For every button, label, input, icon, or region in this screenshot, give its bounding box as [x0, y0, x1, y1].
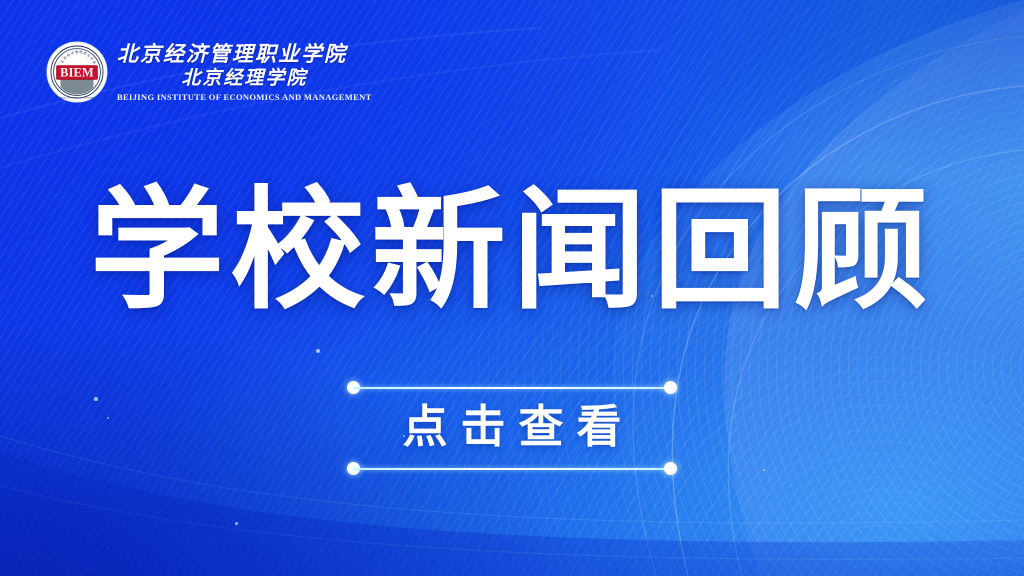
- sparkle-dot: [235, 522, 238, 525]
- institution-name-cn-secondary: 北京经理学院: [117, 69, 372, 88]
- sparkle-dot: [316, 349, 320, 353]
- svg-text:理: 理: [79, 49, 82, 54]
- biem-seal-logo-icon: BIEM 北 京 经 济 管 理 职 业 学 院 BEIJING INSTITU…: [46, 41, 108, 103]
- rule-bar: [354, 468, 670, 470]
- sparkle-dot: [763, 469, 766, 472]
- rule-bar: [354, 387, 670, 389]
- click-to-view-cta[interactable]: 点击查看: [347, 381, 677, 476]
- page-title: 学校新闻回顾: [0, 186, 1024, 318]
- divider-rule-with-end-dots-top: [347, 381, 677, 395]
- cta-label[interactable]: 点击查看: [347, 395, 677, 462]
- institution-logo: BIEM 北 京 经 济 管 理 职 业 学 院 BEIJING INSTITU…: [46, 41, 372, 103]
- svg-text:BEIJING INSTITUTE OF ECONOMICS: BEIJING INSTITUTE OF ECONOMICS: [59, 97, 97, 99]
- rule-end-dot-right: [664, 381, 677, 394]
- sparkle-dot: [94, 397, 97, 400]
- news-review-banner: BIEM 北 京 经 济 管 理 职 业 学 院 BEIJING INSTITU…: [0, 0, 1024, 576]
- institution-name-block: 北京经济管理职业学院 北京经理学院 BEIJING INSTITUTE OF E…: [117, 42, 372, 102]
- svg-text:BIEM: BIEM: [60, 65, 94, 79]
- sparkle-dot: [107, 417, 110, 420]
- rule-end-dot-right: [664, 462, 677, 475]
- institution-name-en: BEIJING INSTITUTE OF ECONOMICS AND MANAG…: [117, 93, 372, 102]
- divider-rule-with-end-dots-bottom: [347, 462, 677, 476]
- institution-name-cn-primary: 北京经济管理职业学院: [117, 44, 372, 65]
